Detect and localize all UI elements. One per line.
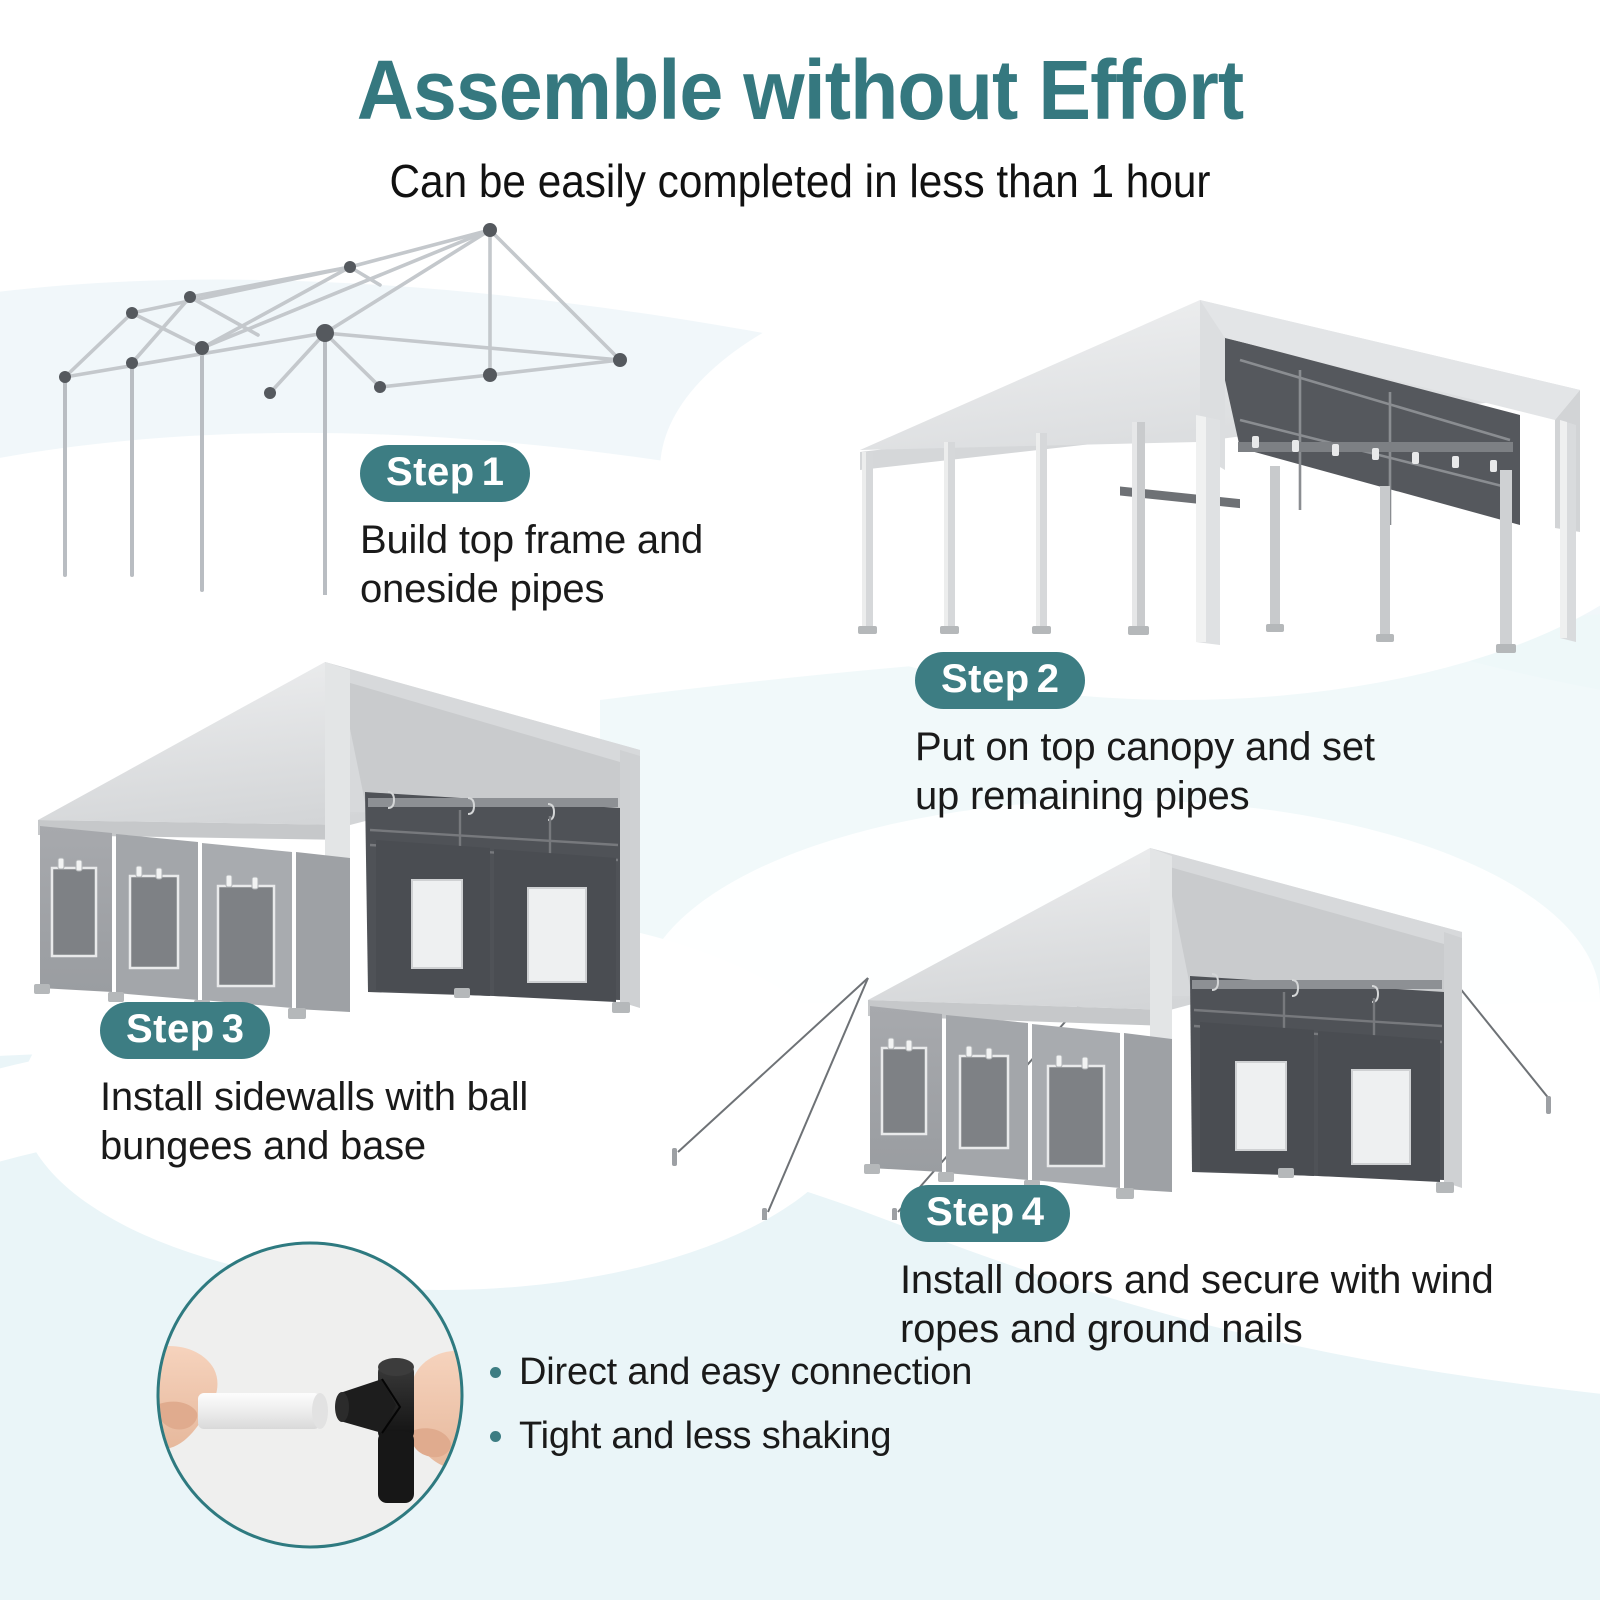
list-item: Tight and less shaking <box>490 1416 972 1458</box>
step-badge-4: Step4 <box>900 1185 1070 1242</box>
white-pipe <box>198 1393 320 1429</box>
feature-bullet-list: Direct and easy connection Tight and les… <box>490 1352 972 1480</box>
step-badge-2: Step2 <box>915 652 1085 709</box>
step-description-4: Install doors and secure with wind ropes… <box>900 1256 1494 1354</box>
list-item: Direct and easy connection <box>490 1352 972 1394</box>
infographic-canvas: Assemble without Effort Can be easily co… <box>0 0 1600 1600</box>
step-description-2: Put on top canopy and set up remaining p… <box>915 723 1375 821</box>
step-description-1: Build top frame and oneside pipes <box>360 516 703 614</box>
bullet-dot-icon <box>490 1367 501 1378</box>
step-block-1: Step1 Build top frame and oneside pipes <box>360 445 703 614</box>
photo-inset-pipe-connection <box>150 1235 470 1555</box>
step-block-3: Step3 Install sidewalls with ball bungee… <box>100 1002 528 1171</box>
step-badge-label-2: Step <box>941 657 1030 701</box>
step-badge-label-1: Step <box>386 450 475 494</box>
step-badge-label-3: Step <box>126 1007 215 1051</box>
step-block-2: Step2 Put on top canopy and set up remai… <box>915 652 1375 821</box>
step-description-3: Install sidewalls with ball bungees and … <box>100 1073 528 1171</box>
illustration-carport-with-sidewalls <box>20 640 660 1030</box>
bullet-text: Direct and easy connection <box>519 1352 972 1394</box>
step-badge-3: Step3 <box>100 1002 270 1059</box>
page-subtitle: Can be easily completed in less than 1 h… <box>64 132 1536 204</box>
step-badge-number-2: 2 <box>1037 657 1060 701</box>
bullet-text: Tight and less shaking <box>519 1416 891 1458</box>
step-badge-number-1: 1 <box>482 450 505 494</box>
bullet-dot-icon <box>490 1431 501 1442</box>
illustration-carport-top-canopy <box>820 270 1580 670</box>
step-badge-1: Step1 <box>360 445 530 502</box>
header: Assemble without Effort Can be easily co… <box>0 0 1600 204</box>
step-badge-number-3: 3 <box>222 1007 245 1051</box>
illustration-carport-with-wind-ropes <box>650 800 1570 1220</box>
step-badge-number-4: 4 <box>1022 1190 1045 1234</box>
step-block-4: Step4 Install doors and secure with wind… <box>900 1185 1494 1354</box>
step-badge-label-4: Step <box>926 1190 1015 1234</box>
page-title: Assemble without Effort <box>48 0 1552 132</box>
